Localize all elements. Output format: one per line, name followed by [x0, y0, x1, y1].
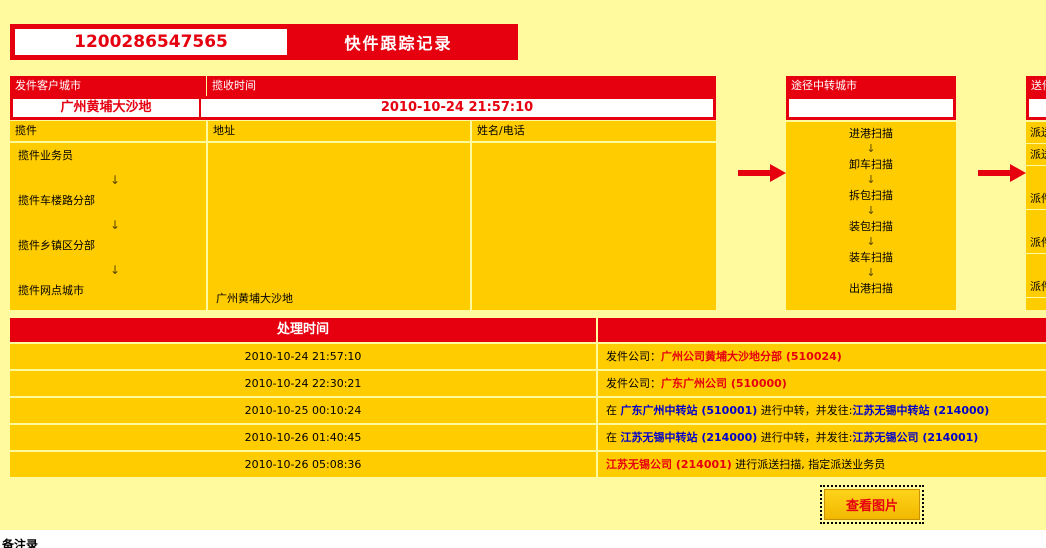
tracking-number-input[interactable]	[15, 29, 287, 55]
process-desc-segment: 发件公司：	[606, 377, 661, 390]
process-desc-segment: 广东广州公司 (510000)	[661, 377, 787, 390]
deliver-step-spacer	[1026, 254, 1046, 276]
sender-header-row: 发件客户城市 揽收时间	[10, 76, 716, 96]
transit-city-header: 途径中转城市	[786, 76, 956, 96]
transit-scan-step: 进港扫描	[786, 125, 956, 142]
name-phone-cell	[472, 143, 716, 310]
transit-scan-step: 装包扫描	[786, 218, 956, 235]
process-time-cell: 2010-10-25 00:10:24	[10, 398, 596, 423]
transit-scan-step: 卸车扫描	[786, 156, 956, 173]
pickup-col-header: 揽件	[10, 121, 206, 141]
deliver-scan-step: 派送	[1026, 144, 1046, 166]
address-col-header: 地址	[208, 121, 470, 141]
transit-scan-step: 装车扫描	[786, 249, 956, 266]
right-arrow-icon	[736, 162, 788, 184]
pickup-chain-item: 揽件车楼路分部	[18, 192, 206, 215]
table-row: 2010-10-25 00:10:24在 广东广州中转站 (510001) 进行…	[10, 398, 1046, 423]
table-row: 2010-10-26 05:08:36江苏无锡公司 (214001) 进行派送扫…	[10, 452, 1046, 477]
process-desc-segment: 江苏无锡中转站 (214000)	[853, 404, 990, 417]
sender-value-bar: 广州黄埔大沙地 2010-10-24 21:57:10	[10, 96, 716, 120]
process-desc-segment: 进行中转，并发往:	[757, 431, 852, 444]
process-time-cell: 2010-10-24 22:30:21	[10, 371, 596, 396]
sender-body-row: 揽件业务员↓揽件车楼路分部↓揽件乡镇区分部↓揽件网点城市 广州黄埔大沙地	[10, 143, 716, 310]
pickup-chain-item: 揽件网点城市	[18, 282, 206, 305]
address-value: 广州黄埔大沙地	[216, 290, 293, 306]
transit-value-bar	[786, 96, 956, 120]
table-row: 2010-10-26 01:40:45在 江苏无锡中转站 (214000) 进行…	[10, 425, 1046, 450]
table-row: 2010-10-24 21:57:10发件公司：广州公司黄埔大沙地分部 (510…	[10, 344, 1046, 369]
deliver-panel: 送件城市 派送派送派件派件派件	[1026, 76, 1046, 310]
sender-city-header: 发件客户城市	[10, 76, 206, 96]
deliver-scan-step: 派件	[1026, 232, 1046, 254]
title-bar: 快件跟踪记录	[10, 24, 518, 60]
process-desc-segment: 江苏无锡公司 (214001)	[853, 431, 979, 444]
down-arrow-icon: ↓	[786, 204, 956, 218]
shipment-flow: 发件客户城市 揽收时间 广州黄埔大沙地 2010-10-24 21:57:10 …	[10, 76, 1046, 310]
tracking-table-body: 2010-10-24 21:57:10发件公司：广州公司黄埔大沙地分部 (510…	[10, 344, 1046, 477]
deliver-scan-step: 派件	[1026, 188, 1046, 210]
down-arrow-icon: ↓	[18, 170, 206, 192]
right-arrow-icon-2	[976, 162, 1028, 184]
name-phone-col-header: 姓名/电话	[472, 121, 716, 141]
process-desc-segment: 广东广州中转站 (510001)	[621, 404, 758, 417]
tracking-page: 快件跟踪记录 发件客户城市 揽收时间 广州黄埔大沙地 2010-10-24 21…	[0, 0, 1046, 548]
process-time-cell: 2010-10-24 21:57:10	[10, 344, 596, 369]
pickup-chain-item: 揽件业务员	[18, 147, 206, 170]
process-desc-segment: 江苏无锡公司 (214001)	[606, 458, 732, 471]
footer-strip: 备注录	[0, 528, 1046, 548]
down-arrow-icon: ↓	[18, 260, 206, 282]
process-desc-segment: 进行中转，并发往:	[757, 404, 852, 417]
view-image-button-wrap: 查看图片	[824, 489, 920, 520]
down-arrow-icon: ↓	[786, 142, 956, 156]
view-image-button[interactable]: 查看图片	[824, 489, 920, 520]
down-arrow-icon: ↓	[786, 235, 956, 249]
deliver-scan-list: 派送派送派件派件派件	[1026, 122, 1046, 310]
deliver-city-value	[1029, 99, 1046, 117]
process-desc-header	[598, 318, 1046, 342]
deliver-scan-step: 派件	[1026, 276, 1046, 298]
process-desc-segment: 进行派送扫描, 指定派送业务员	[732, 458, 886, 471]
deliver-step-spacer	[1026, 210, 1046, 232]
pickup-chain-list: 揽件业务员↓揽件车楼路分部↓揽件乡镇区分部↓揽件网点城市	[18, 147, 206, 305]
deliver-value-bar	[1026, 96, 1046, 120]
process-time-cell: 2010-10-26 05:08:36	[10, 452, 596, 477]
process-desc-segment: 广州公司黄埔大沙地分部 (510024)	[661, 350, 842, 363]
process-desc-segment: 在	[606, 404, 621, 417]
transit-city-value	[789, 99, 953, 117]
down-arrow-icon: ↓	[18, 215, 206, 237]
down-arrow-icon: ↓	[786, 266, 956, 280]
footer-text: 备注录	[2, 536, 38, 548]
sender-panel: 发件客户城市 揽收时间 广州黄埔大沙地 2010-10-24 21:57:10 …	[10, 76, 716, 310]
process-desc-segment: 发件公司：	[606, 350, 661, 363]
pickup-chain-item: 揽件乡镇区分部	[18, 237, 206, 260]
down-arrow-icon: ↓	[786, 173, 956, 187]
transit-scan-step: 拆包扫描	[786, 187, 956, 204]
address-cell: 广州黄埔大沙地	[208, 143, 470, 310]
process-desc-segment: 江苏无锡中转站 (214000)	[621, 431, 758, 444]
process-desc-cell: 在 江苏无锡中转站 (214000) 进行中转，并发往:江苏无锡公司 (2140…	[598, 425, 1046, 450]
process-desc-cell: 发件公司：广州公司黄埔大沙地分部 (510024)	[598, 344, 1046, 369]
sender-city-value: 广州黄埔大沙地	[13, 99, 199, 117]
pickup-time-header: 揽收时间	[207, 76, 716, 96]
pickup-time-value: 2010-10-24 21:57:10	[201, 99, 713, 117]
tracking-table: 处理时间 2010-10-24 21:57:10发件公司：广州公司黄埔大沙地分部…	[10, 318, 1046, 479]
pickup-chain-cell: 揽件业务员↓揽件车楼路分部↓揽件乡镇区分部↓揽件网点城市	[10, 143, 206, 310]
deliver-scan-step: 派送	[1026, 122, 1046, 144]
transit-scan-list: 进港扫描↓卸车扫描↓拆包扫描↓装包扫描↓装车扫描↓出港扫描	[786, 122, 956, 310]
process-time-cell: 2010-10-26 01:40:45	[10, 425, 596, 450]
deliver-step-spacer	[1026, 166, 1046, 188]
process-time-header: 处理时间	[10, 318, 596, 342]
deliver-city-header: 送件城市	[1026, 76, 1046, 96]
sender-subheader-row: 揽件 地址 姓名/电话	[10, 121, 716, 141]
page-title: 快件跟踪记录	[287, 30, 518, 54]
process-desc-segment: 在	[606, 431, 621, 444]
process-desc-cell: 发件公司：广东广州公司 (510000)	[598, 371, 1046, 396]
transit-panel: 途径中转城市 进港扫描↓卸车扫描↓拆包扫描↓装包扫描↓装车扫描↓出港扫描	[786, 76, 956, 310]
transit-scan-step: 出港扫描	[786, 280, 956, 297]
process-desc-cell: 在 广东广州中转站 (510001) 进行中转，并发往:江苏无锡中转站 (214…	[598, 398, 1046, 423]
table-row: 2010-10-24 22:30:21发件公司：广东广州公司 (510000)	[10, 371, 1046, 396]
tracking-table-header-row: 处理时间	[10, 318, 1046, 342]
process-desc-cell: 江苏无锡公司 (214001) 进行派送扫描, 指定派送业务员	[598, 452, 1046, 477]
